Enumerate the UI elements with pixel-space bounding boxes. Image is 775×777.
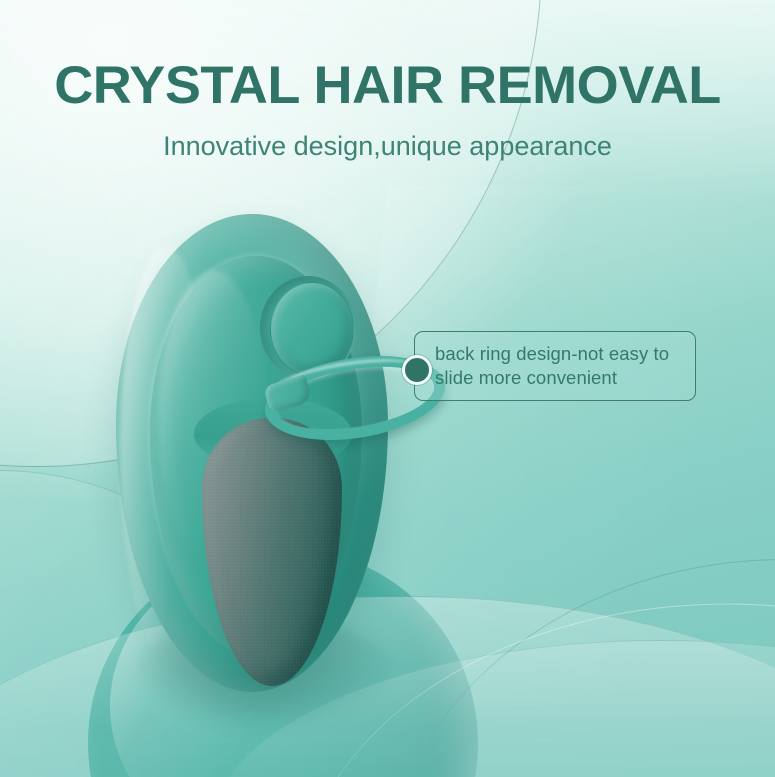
product-image bbox=[114, 212, 390, 694]
product-poster: CRYSTAL HAIR REMOVAL Innovative design,u… bbox=[0, 0, 775, 777]
feature-callout: back ring design-not easy to slide more … bbox=[414, 331, 696, 401]
callout-dot-marker bbox=[402, 355, 432, 385]
feature-callout-text: back ring design-not easy to slide more … bbox=[435, 342, 685, 390]
page-subtitle: Innovative design,unique appearance bbox=[0, 133, 775, 160]
page-title: CRYSTAL HAIR REMOVAL bbox=[0, 59, 775, 112]
